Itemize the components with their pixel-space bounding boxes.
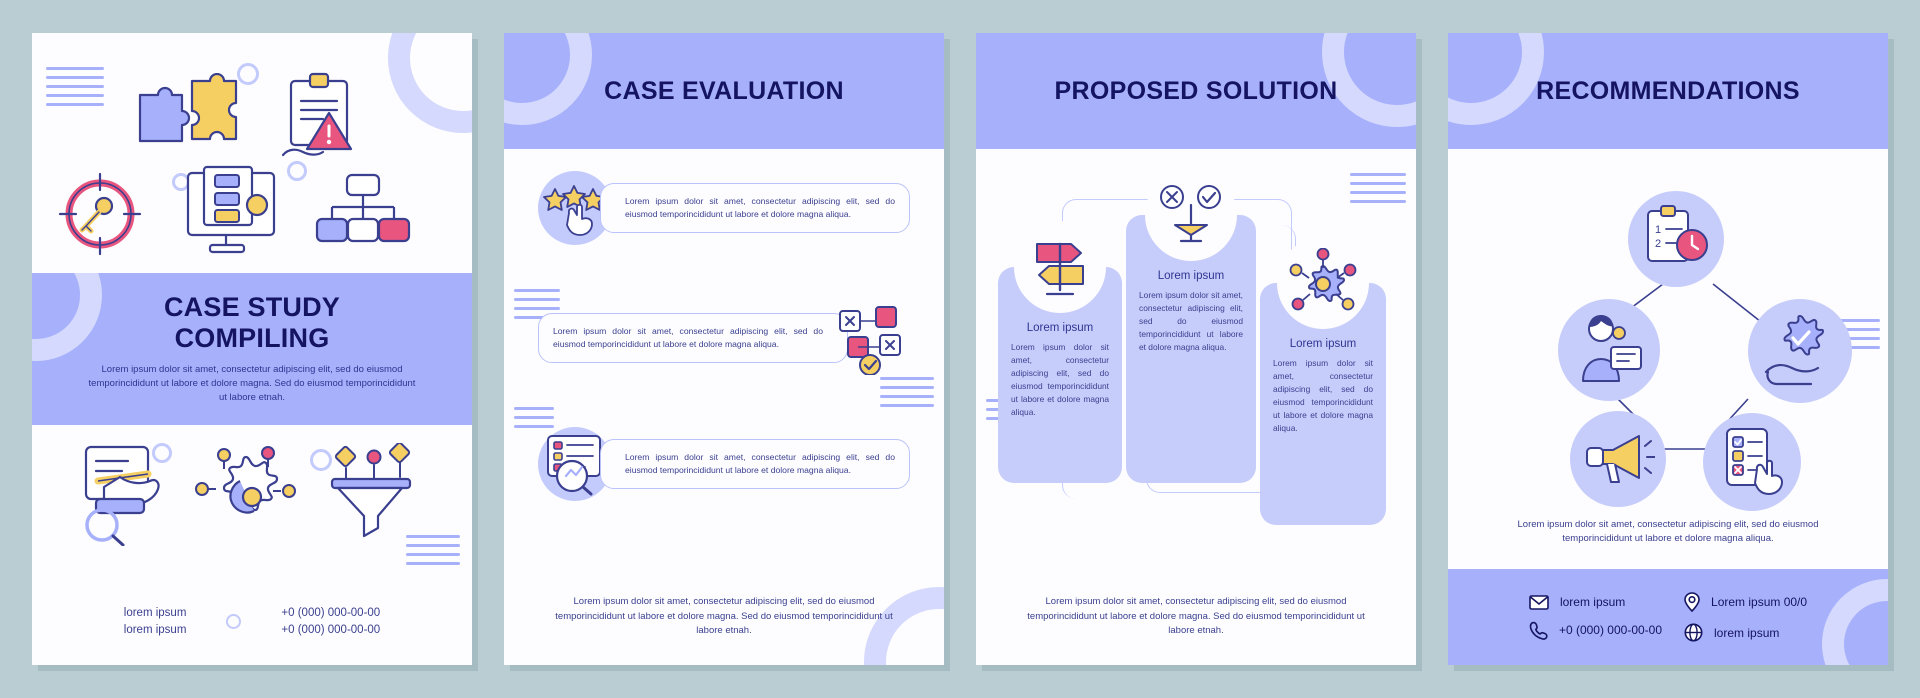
panel-case-evaluation: CASE EVALUATION [504,33,944,665]
gear-wrench-icon [194,441,298,545]
solution-card-3: Lorem ipsum Lorem ipsum dolor sit amet, … [1260,283,1386,525]
contact-column-right: Lorem ipsum 00/0 lorem ipsum [1684,592,1807,642]
numbered-clipboard-clock-icon: 1 2 [1628,191,1724,287]
panel-proposed-solution: PROPOSED SOLUTION [976,33,1416,665]
solution-card-2-title: Lorem ipsum [1158,270,1224,282]
deco-ring-6 [226,614,241,629]
cover-contact-left: lorem ipsum lorem ipsum [124,605,187,640]
contact-email[interactable]: lorem ipsum [1529,595,1662,610]
solution-card-1: Lorem ipsum Lorem ipsum dolor sit amet, … [998,267,1122,483]
globe-icon [1684,623,1703,642]
gear-check-hand-icon [1748,299,1852,403]
cover-contact-right: +0 (000) 000-00-00 +0 (000) 000-00-00 [281,605,380,640]
cover-contact-phone-2: +0 (000) 000-00-00 [281,622,380,639]
evaluation-text-2: Lorem ipsum dolor sit amet, consectetur … [538,313,848,363]
funnel-filter-icon [322,443,418,545]
proposed-solution-title: PROPOSED SOLUTION [1055,77,1338,106]
deco-arc-foot [1822,579,1888,665]
location-pin-icon [1684,592,1700,612]
decision-flow-check-icon [836,301,910,375]
proposed-solution-footer: Lorem ipsum dolor sit amet, consectetur … [1014,595,1378,639]
case-evaluation-body: Lorem ipsum dolor sit amet, consectetur … [504,149,944,665]
recommendations-description: Lorem ipsum dolor sit amet, consectetur … [1494,518,1842,547]
evaluation-text-1: Lorem ipsum dolor sit amet, consectetur … [600,183,910,233]
cover-top-illustration [32,33,472,273]
page-title-line-2: COMPILING [164,323,340,353]
network-nodes-gear-icon [1277,237,1369,329]
deco-lines-left [46,67,104,106]
puzzle-pieces-icon [132,73,247,153]
solution-card-1-text: Lorem ipsum dolor sit amet, consectetur … [998,334,1122,419]
contact-address-text: Lorem ipsum 00/0 [1711,595,1807,609]
deco-arc-head [504,33,592,125]
recommendations-title: RECOMMENDATIONS [1536,77,1800,106]
cover-title-band: CASE STUDY COMPILING Lorem ipsum dolor s… [32,273,472,425]
recommendations-header: RECOMMENDATIONS [1448,33,1888,149]
recommendations-contact-bar: lorem ipsum +0 (000) 000-00-00 Lorem ips… [1448,569,1888,665]
deco-arc-head-4 [1448,33,1544,125]
key-target-icon [54,168,146,260]
evaluation-text-3: Lorem ipsum dolor sit amet, consectetur … [600,439,910,489]
envelope-icon [1529,595,1549,610]
case-evaluation-footer: Lorem ipsum dolor sit amet, consectetur … [542,595,906,639]
megaphone-announce-icon [1570,411,1666,507]
phone-icon [1529,621,1548,640]
svg-text:1: 1 [1655,224,1661,236]
deco-lines-mid-right [880,377,934,407]
cover-subtitle: Lorem ipsum dolor sit amet, consectetur … [87,363,417,406]
clipboard-warning-icon [277,69,367,165]
proposed-solution-header: PROPOSED SOLUTION [976,33,1416,149]
contact-address[interactable]: Lorem ipsum 00/0 [1684,592,1807,612]
deco-arc-band [32,273,102,361]
monitor-flow-gear-icon [182,165,292,261]
hand-writing-document-icon [74,441,184,546]
deco-lines-low-left [514,407,554,428]
cover-contact-left-line-2: lorem ipsum [124,622,187,639]
cover-bottom-illustration: lorem ipsum lorem ipsum +0 (000) 000-00-… [32,425,472,665]
deco-arc [388,33,472,133]
contact-phone-text: +0 (000) 000-00-00 [1559,623,1662,637]
hierarchy-icon [314,173,414,253]
brochure-layout: CASE STUDY COMPILING Lorem ipsum dolor s… [0,0,1920,698]
page-title-line-1: CASE STUDY [164,292,340,322]
solution-card-2-text: Lorem ipsum dolor sit amet, consectetur … [1126,282,1256,354]
contact-phone[interactable]: +0 (000) 000-00-00 [1529,621,1662,640]
person-presenting-icon [1558,299,1660,401]
contact-website[interactable]: lorem ipsum [1684,623,1807,642]
panel-recommendations: RECOMMENDATIONS 1 2 [1448,33,1888,665]
evaluation-row-3: Lorem ipsum dolor sit amet, consectetur … [538,427,910,501]
panel-cover: CASE STUDY COMPILING Lorem ipsum dolor s… [32,33,472,665]
balance-scale-decision-icon [1145,169,1237,261]
evaluation-row-1: Lorem ipsum dolor sit amet, consectetur … [538,171,910,245]
recommendations-body: 1 2 [1448,149,1888,569]
solution-card-3-title: Lorem ipsum [1290,338,1356,350]
cover-contact-left-line-1: lorem ipsum [124,605,187,622]
solution-card-2: Lorem ipsum Lorem ipsum dolor sit amet, … [1126,215,1256,483]
contact-email-text: lorem ipsum [1560,595,1625,609]
case-evaluation-title: CASE EVALUATION [604,77,844,106]
contact-website-text: lorem ipsum [1714,626,1779,640]
checklist-mobile-tap-icon [1703,413,1801,511]
case-evaluation-header: CASE EVALUATION [504,33,944,149]
page-title: CASE STUDY COMPILING [164,292,340,352]
proposed-solution-body: Lorem ipsum Lorem ipsum dolor sit amet, … [976,149,1416,665]
cover-contact-block: lorem ipsum lorem ipsum +0 (000) 000-00-… [32,605,472,640]
cover-contact-phone-1: +0 (000) 000-00-00 [281,605,380,622]
deco-lines-p3-right [1350,173,1406,203]
evaluation-row-2: Lorem ipsum dolor sit amet, consectetur … [538,301,910,375]
contact-column-left: lorem ipsum +0 (000) 000-00-00 [1529,595,1662,640]
solution-card-1-title: Lorem ipsum [1027,322,1093,334]
signpost-direction-icon [1014,221,1106,313]
svg-text:2: 2 [1655,238,1661,250]
solution-card-3-text: Lorem ipsum dolor sit amet, consectetur … [1260,350,1386,435]
